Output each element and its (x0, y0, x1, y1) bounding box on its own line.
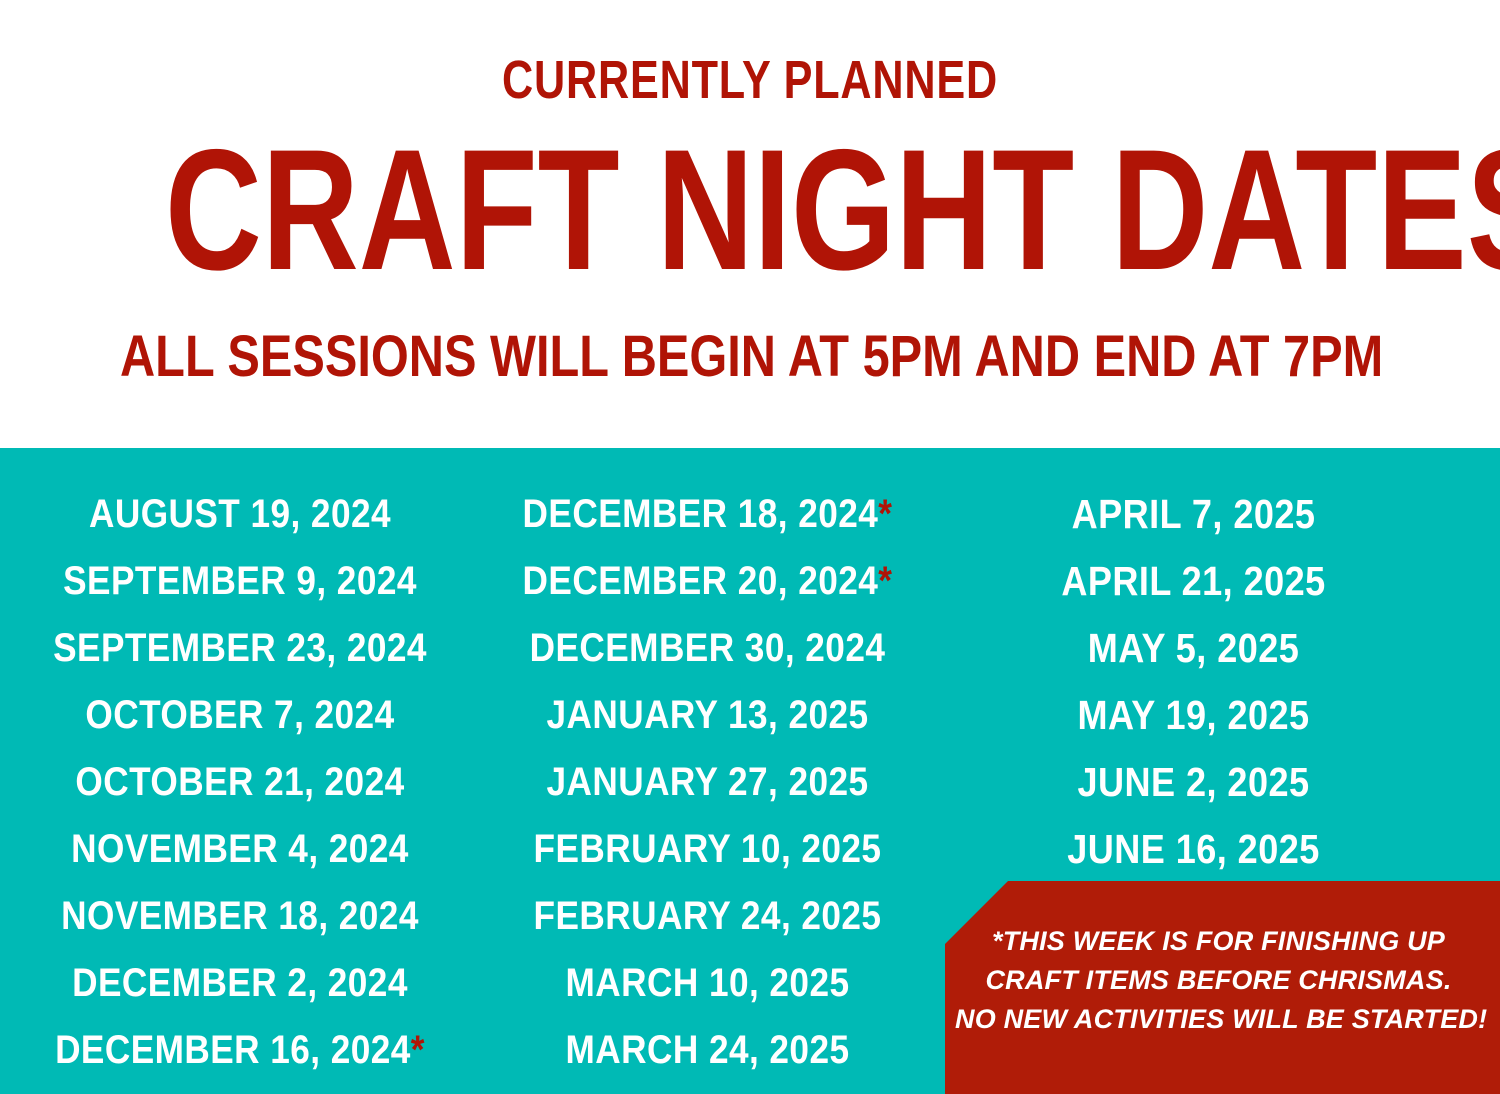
date-label: APRIL 7, 2025 (1072, 491, 1316, 537)
asterisk-marker-icon: * (878, 492, 892, 536)
date-item: JUNE 16, 2025 (966, 816, 1421, 883)
date-column-1: AUGUST 19, 2024SEPTEMBER 9, 2024SEPTEMBE… (0, 448, 480, 1084)
date-item: AUGUST 19, 2024 (29, 481, 451, 548)
footnote-line: NO NEW ACTIVITIES WILL BE STARTED! (955, 1000, 1482, 1039)
date-label: NOVEMBER 18, 2024 (61, 894, 419, 938)
date-label: SEPTEMBER 23, 2024 (53, 626, 427, 670)
date-item: MARCH 10, 2025 (507, 950, 907, 1017)
date-label: DECEMBER 30, 2024 (530, 626, 886, 670)
asterisk-marker-icon: * (878, 559, 892, 603)
footnote-line: *THIS WEEK IS FOR FINISHING UP (955, 922, 1482, 961)
date-label: DECEMBER 18, 2024 (523, 492, 879, 536)
date-item: OCTOBER 21, 2024 (29, 749, 451, 816)
date-item: APRIL 7, 2025 (966, 481, 1421, 548)
page-title: CRAFT NIGHT DATES (165, 124, 1335, 296)
date-item: FEBRUARY 10, 2025 (507, 816, 907, 883)
date-label: MAY 19, 2025 (1078, 692, 1310, 738)
poster-canvas: CURRENTLY PLANNED CRAFT NIGHT DATES ALL … (0, 0, 1500, 1094)
date-item: DECEMBER 16, 2024* (29, 1017, 451, 1084)
date-item: DECEMBER 20, 2024* (507, 548, 907, 615)
date-label: JANUARY 27, 2025 (546, 760, 868, 804)
date-item: DECEMBER 2, 2024 (29, 950, 451, 1017)
date-label: DECEMBER 2, 2024 (72, 961, 408, 1005)
date-item: APRIL 21, 2025 (966, 548, 1421, 615)
poster-header: CURRENTLY PLANNED CRAFT NIGHT DATES ALL … (0, 0, 1500, 448)
date-label: JANUARY 13, 2025 (546, 693, 868, 737)
date-item: JUNE 2, 2025 (966, 749, 1421, 816)
date-label: MARCH 24, 2025 (566, 1028, 850, 1072)
date-item: NOVEMBER 18, 2024 (29, 883, 451, 950)
date-column-2: DECEMBER 18, 2024*DECEMBER 20, 2024*DECE… (480, 448, 935, 1084)
date-item: DECEMBER 18, 2024* (507, 481, 907, 548)
date-label: NOVEMBER 4, 2024 (71, 827, 409, 871)
date-label: JUNE 2, 2025 (1078, 759, 1310, 805)
date-label: DECEMBER 16, 2024 (55, 1028, 411, 1072)
date-item: OCTOBER 7, 2024 (29, 682, 451, 749)
date-label: FEBRUARY 10, 2025 (534, 827, 882, 871)
date-label: SEPTEMBER 9, 2024 (63, 559, 417, 603)
session-time-subtitle: ALL SESSIONS WILL BEGIN AT 5PM AND END A… (120, 327, 1380, 387)
footnote-line: CRAFT ITEMS BEFORE CHRISMAS. (955, 961, 1482, 1000)
date-item: MAY 19, 2025 (966, 682, 1421, 749)
date-label: OCTOBER 7, 2024 (85, 693, 394, 737)
date-item: SEPTEMBER 23, 2024 (29, 615, 451, 682)
eyebrow-text: CURRENTLY PLANNED (150, 52, 1350, 108)
date-label: MARCH 10, 2025 (566, 961, 850, 1005)
date-item: FEBRUARY 24, 2025 (507, 883, 907, 950)
date-item: MAY 5, 2025 (966, 615, 1421, 682)
date-item: JANUARY 13, 2025 (507, 682, 907, 749)
date-item: JANUARY 27, 2025 (507, 749, 907, 816)
date-item: SEPTEMBER 9, 2024 (29, 548, 451, 615)
date-item: MARCH 24, 2025 (507, 1017, 907, 1084)
date-label: APRIL 21, 2025 (1061, 558, 1325, 604)
footnote-callout-box: *THIS WEEK IS FOR FINISHING UPCRAFT ITEM… (945, 852, 1500, 1094)
date-item: NOVEMBER 4, 2024 (29, 816, 451, 883)
date-label: MAY 5, 2025 (1088, 625, 1299, 671)
date-label: AUGUST 19, 2024 (89, 492, 391, 536)
asterisk-marker-icon: * (411, 1028, 425, 1072)
date-label: OCTOBER 21, 2024 (75, 760, 404, 804)
date-label: DECEMBER 20, 2024 (523, 559, 879, 603)
footnote-text: *THIS WEEK IS FOR FINISHING UPCRAFT ITEM… (945, 922, 1500, 1039)
date-item: DECEMBER 30, 2024 (507, 615, 907, 682)
date-label: FEBRUARY 24, 2025 (534, 894, 882, 938)
date-label: JUNE 16, 2025 (1067, 826, 1319, 872)
date-column-3: APRIL 7, 2025APRIL 21, 2025MAY 5, 2025MA… (935, 448, 1500, 883)
